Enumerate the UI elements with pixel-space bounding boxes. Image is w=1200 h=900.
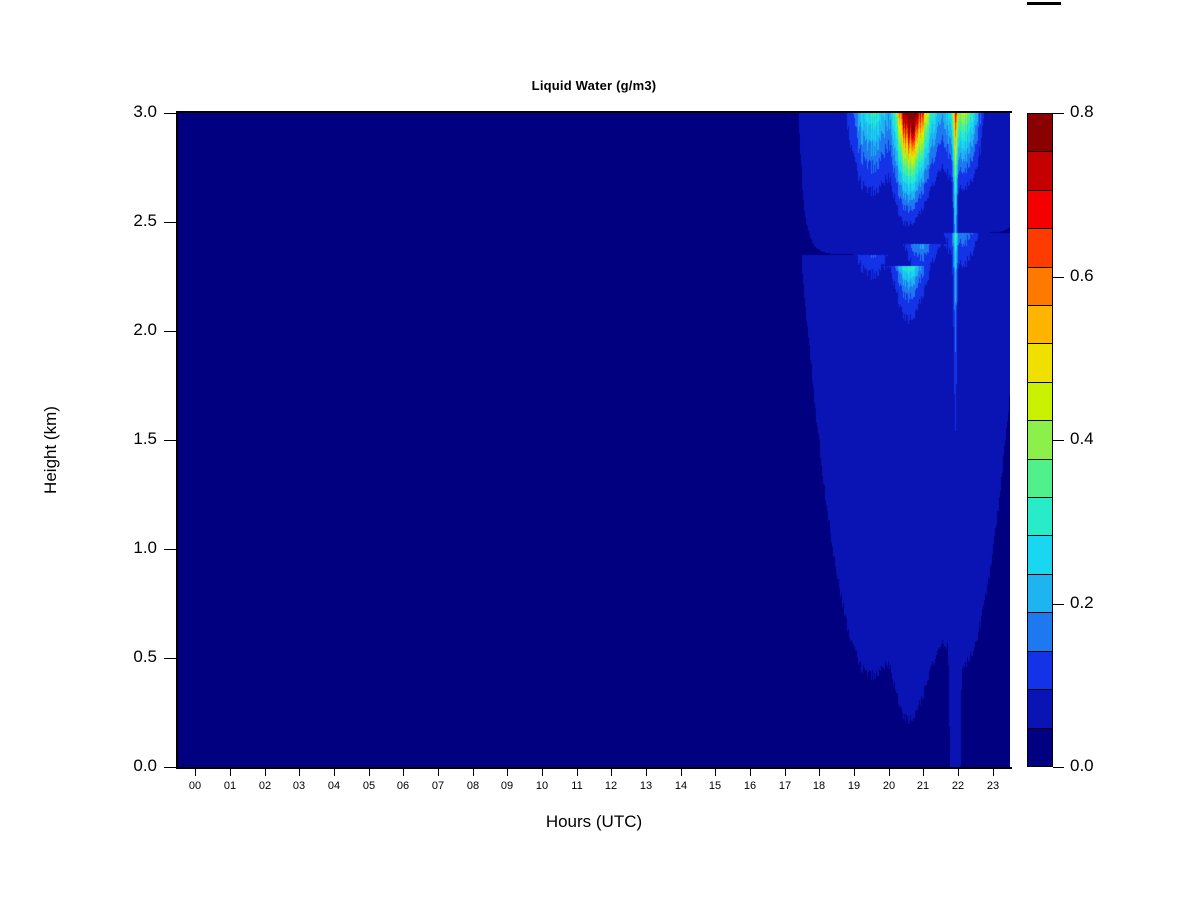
colorbar-swatch	[1028, 498, 1052, 536]
x-tick-label: 04	[328, 780, 340, 792]
colorbar-swatch	[1028, 383, 1052, 421]
colorbar-tick-mark	[1053, 767, 1064, 768]
x-tick-label: 16	[744, 780, 756, 792]
x-tick-mark	[369, 769, 370, 776]
x-tick-mark	[993, 769, 994, 776]
heatmap-plot-area	[178, 113, 1010, 767]
colorbar-tick-label: 0.8	[1070, 102, 1094, 122]
y-tick-label: 0.0	[105, 756, 157, 776]
colorbar-swatch	[1028, 460, 1052, 498]
x-tick-label: 05	[363, 780, 375, 792]
colorbar-swatch	[1028, 729, 1052, 766]
colorbar-swatch	[1028, 344, 1052, 382]
x-tick-label: 11	[571, 780, 582, 792]
colorbar-tick-label: 0.2	[1070, 593, 1094, 613]
heatmap-canvas	[178, 113, 1010, 767]
colorbar	[1027, 113, 1053, 767]
x-axis-title: Hours (UTC)	[178, 812, 1010, 832]
x-tick-mark	[819, 769, 820, 776]
y-axis-title: Height (km)	[41, 370, 61, 530]
x-tick-mark	[577, 769, 578, 776]
x-tick-mark	[889, 769, 890, 776]
colorbar-swatch	[1028, 421, 1052, 459]
colorbar-swatch	[1028, 613, 1052, 651]
x-tick-mark	[715, 769, 716, 776]
x-tick-mark	[923, 769, 924, 776]
x-tick-label: 12	[605, 780, 617, 792]
x-tick-label: 13	[640, 780, 652, 792]
colorbar-tick-label: 0.6	[1070, 266, 1094, 286]
x-tick-mark	[403, 769, 404, 776]
x-tick-mark	[265, 769, 266, 776]
x-tick-mark	[854, 769, 855, 776]
x-tick-label: 15	[709, 780, 721, 792]
x-tick-label: 18	[813, 780, 825, 792]
top-spine	[176, 111, 1012, 113]
x-tick-label: 01	[224, 780, 236, 792]
x-tick-mark	[473, 769, 474, 776]
x-tick-mark	[507, 769, 508, 776]
x-tick-mark	[750, 769, 751, 776]
x-tick-mark	[646, 769, 647, 776]
y-tick-label: 2.5	[105, 211, 157, 231]
y-tick-mark	[164, 658, 176, 659]
x-tick-label: 07	[432, 780, 444, 792]
y-tick-label: 0.5	[105, 647, 157, 667]
x-tick-label: 22	[952, 780, 964, 792]
x-tick-mark	[958, 769, 959, 776]
figure-canvas: Liquid Water (g/m3) 0.00.51.01.52.02.53.…	[0, 0, 1200, 900]
colorbar-swatch	[1028, 268, 1052, 306]
x-tick-mark	[195, 769, 196, 776]
x-tick-label: 19	[848, 780, 860, 792]
y-tick-mark	[164, 549, 176, 550]
colorbar-swatch	[1028, 229, 1052, 267]
x-tick-label: 08	[467, 780, 479, 792]
x-tick-label: 20	[883, 780, 895, 792]
colorbar-tick-mark	[1053, 113, 1064, 114]
colorbar-tick-mark	[1053, 277, 1064, 278]
colorbar-tick-label: 0.4	[1070, 429, 1094, 449]
x-tick-label: 23	[987, 780, 999, 792]
colorbar-swatch	[1028, 191, 1052, 229]
y-tick-label: 2.0	[105, 320, 157, 340]
colorbar-swatch	[1028, 652, 1052, 690]
x-tick-mark	[230, 769, 231, 776]
colorbar-swatch	[1028, 306, 1052, 344]
colorbar-swatch	[1028, 114, 1052, 152]
colorbar-tick-mark	[1053, 604, 1064, 605]
x-tick-label: 02	[259, 780, 271, 792]
colorbar-swatch	[1028, 536, 1052, 574]
x-axis-spine	[176, 767, 1012, 769]
y-tick-mark	[164, 767, 176, 768]
x-tick-label: 09	[501, 780, 513, 792]
x-tick-label: 14	[675, 780, 687, 792]
x-tick-mark	[542, 769, 543, 776]
x-tick-label: 17	[779, 780, 791, 792]
colorbar-tick-label: 0.0	[1070, 756, 1094, 776]
x-tick-mark	[681, 769, 682, 776]
x-tick-label: 21	[917, 780, 929, 792]
colorbar-swatch	[1028, 152, 1052, 190]
colorbar-tick-mark	[1053, 440, 1064, 441]
x-tick-label: 06	[397, 780, 409, 792]
x-tick-mark	[299, 769, 300, 776]
y-tick-label: 1.0	[105, 538, 157, 558]
y-axis-spine	[176, 111, 178, 769]
colorbar-swatch	[1028, 690, 1052, 728]
x-tick-mark	[611, 769, 612, 776]
page-title: Liquid Water (g/m3)	[178, 78, 1010, 93]
colorbar-swatch	[1028, 575, 1052, 613]
x-tick-mark	[334, 769, 335, 776]
y-tick-label: 1.5	[105, 429, 157, 449]
y-tick-mark	[164, 331, 176, 332]
x-tick-label: 00	[189, 780, 201, 792]
x-tick-label: 10	[536, 780, 548, 792]
stray-line-mark	[1027, 2, 1061, 5]
x-tick-mark	[438, 769, 439, 776]
x-tick-mark	[785, 769, 786, 776]
x-tick-label: 03	[293, 780, 305, 792]
y-tick-mark	[164, 113, 176, 114]
y-tick-mark	[164, 222, 176, 223]
y-tick-label: 3.0	[105, 102, 157, 122]
y-tick-mark	[164, 440, 176, 441]
